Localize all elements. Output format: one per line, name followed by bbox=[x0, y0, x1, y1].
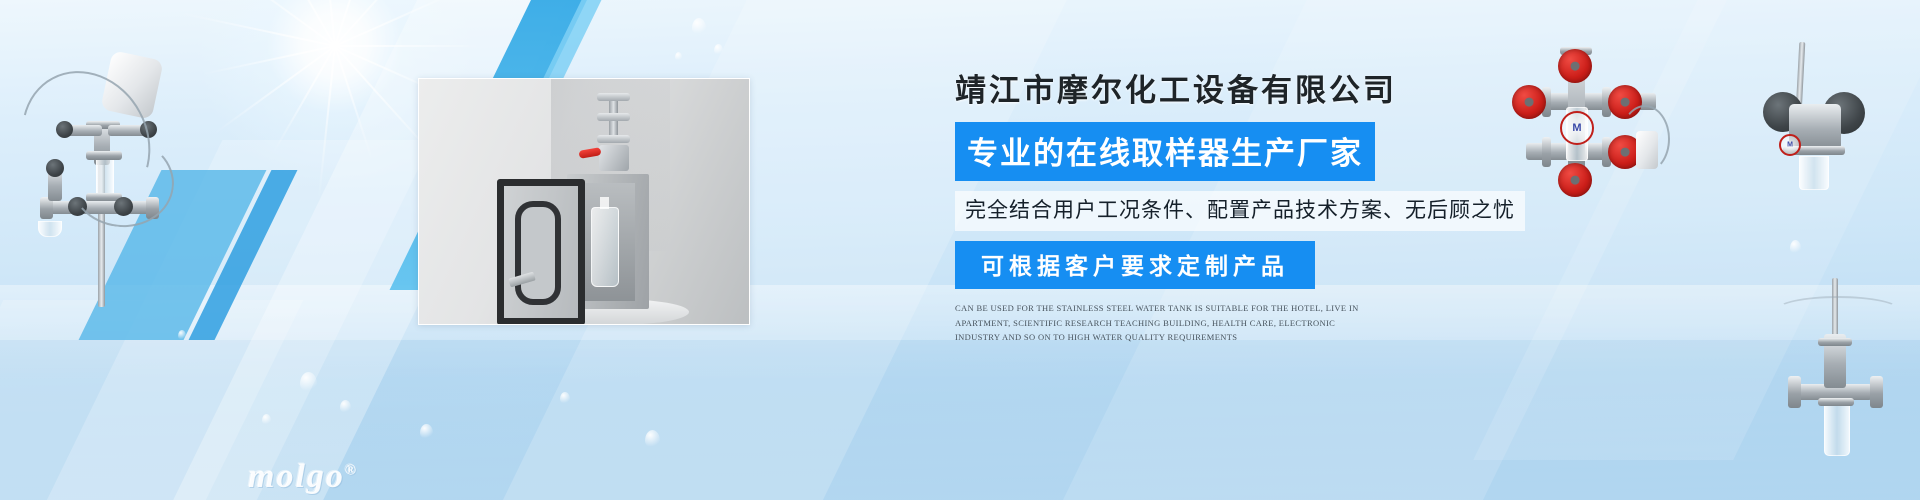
ribbon-blue-3 bbox=[79, 170, 267, 340]
product-photo bbox=[418, 78, 750, 325]
lever-valve-illustration: M bbox=[1745, 40, 1895, 210]
copy-block: 靖江市摩尔化工设备有限公司 专业的在线取样器生产厂家 完全结合用户工况条件、配置… bbox=[955, 72, 1595, 345]
water-droplet bbox=[675, 52, 682, 61]
water-droplet bbox=[560, 392, 570, 404]
company-name: 靖江市摩尔化工设备有限公司 bbox=[955, 72, 1595, 111]
brand-logo: molgo® bbox=[248, 458, 358, 496]
water-droplet bbox=[178, 330, 186, 340]
water-droplet bbox=[692, 18, 706, 35]
water-droplet bbox=[714, 44, 723, 55]
water-droplet bbox=[645, 430, 660, 448]
fineprint-description: CAN BE USED FOR THE STAINLESS STEEL WATE… bbox=[955, 301, 1373, 345]
headline: 专业的在线取样器生产厂家 bbox=[955, 122, 1375, 181]
promo-banner: M M 靖江市摩尔化工设备有限公司 专业的在线取样器生产厂家 完全结合用户工况条… bbox=[0, 0, 1920, 500]
registered-trademark-icon: ® bbox=[345, 463, 358, 479]
water-droplet bbox=[262, 414, 271, 425]
water-droplet bbox=[300, 372, 317, 392]
brand-logo-text: molgo bbox=[248, 458, 345, 495]
bottom-valve-illustration bbox=[1768, 278, 1908, 468]
water-droplet bbox=[340, 400, 351, 413]
tagline: 可根据客户要求定制产品 bbox=[955, 241, 1315, 289]
left-equipment-illustration bbox=[10, 25, 190, 310]
water-droplet bbox=[420, 424, 433, 439]
water-droplet bbox=[1790, 240, 1801, 254]
ribbon-white-2 bbox=[18, 140, 433, 500]
ribbon-blue-4 bbox=[189, 170, 298, 340]
subheadline: 完全结合用户工况条件、配置产品技术方案、无后顾之忧 bbox=[955, 191, 1525, 231]
